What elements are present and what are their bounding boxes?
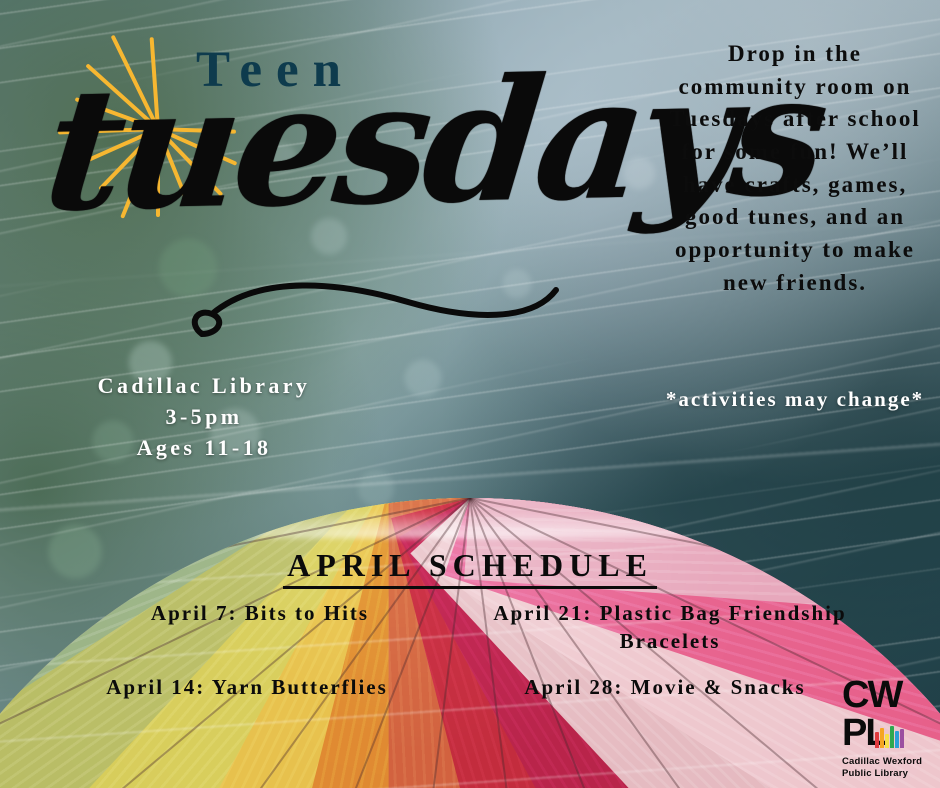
- schedule-heading: APRIL SCHEDULE: [0, 547, 940, 584]
- schedule-item: April 28: Movie & Snacks: [455, 674, 875, 702]
- book-spine: [900, 729, 904, 748]
- schedule-heading-text: APRIL SCHEDULE: [283, 547, 657, 589]
- detail-time: 3-5pm: [68, 401, 340, 432]
- book-spine: [875, 732, 879, 748]
- logo-library-name: Cadillac Wexford Public Library: [842, 756, 928, 780]
- schedule-item: April 21: Plastic Bag Friendship Bracele…: [455, 600, 885, 655]
- book-spine: [890, 726, 894, 748]
- schedule-item: April 7: Bits to Hits: [60, 600, 460, 628]
- event-description-note: *activities may change*: [664, 385, 926, 413]
- detail-location: Cadillac Library: [68, 370, 340, 401]
- logo-name-line1: Cadillac Wexford: [842, 756, 928, 768]
- book-spine: [885, 734, 889, 748]
- poster-canvas: Teen tuesdays Cadillac Library 3-5pm Age…: [0, 0, 940, 788]
- book-spine: [895, 731, 899, 748]
- book-spine: [880, 728, 884, 748]
- detail-ages: Ages 11-18: [68, 432, 340, 463]
- schedule-item: April 14: Yarn Butterflies: [22, 674, 472, 702]
- logo-name-line2: Public Library: [842, 768, 928, 780]
- event-description: Drop in the community room on Tuesdays a…: [664, 38, 926, 299]
- logo-cw-text: CW: [842, 676, 928, 714]
- library-logo: CW PL Cadillac Wexford Public Library: [842, 676, 928, 780]
- book-spines-icon: [875, 726, 904, 748]
- event-details: Cadillac Library 3-5pm Ages 11-18: [68, 370, 340, 464]
- schedule-list: April 7: Bits to Hits April 21: Plastic …: [0, 596, 940, 716]
- logo-pl-row: PL: [842, 714, 928, 752]
